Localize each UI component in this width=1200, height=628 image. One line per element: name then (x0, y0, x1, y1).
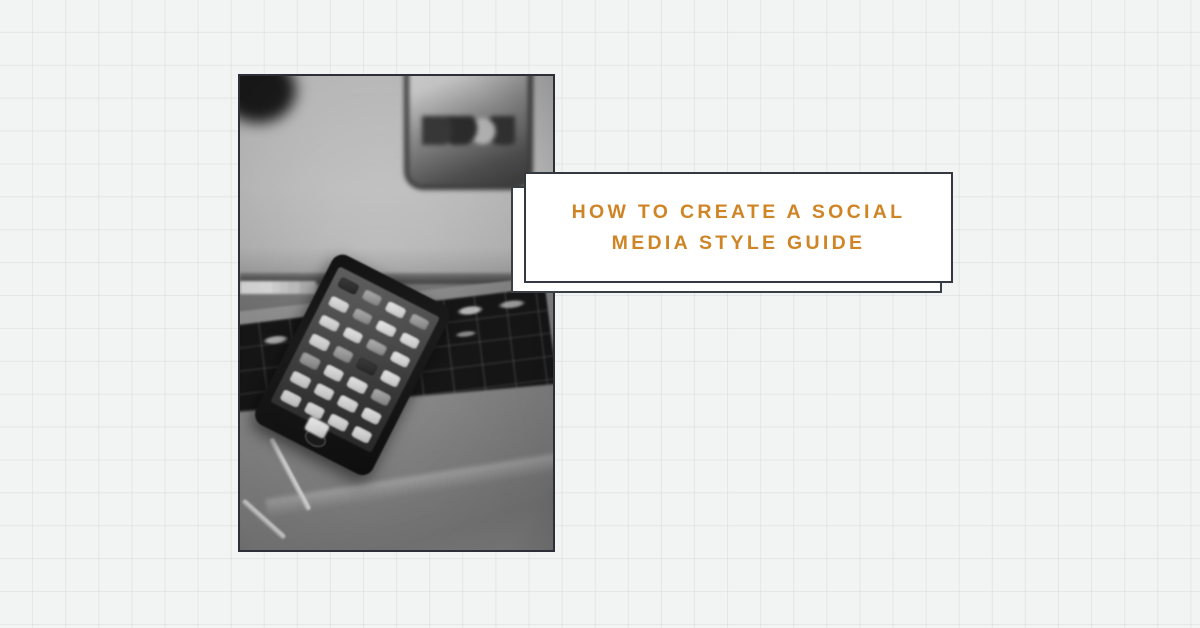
hero-photo (238, 74, 555, 552)
page-title: How to Create a Social Media Style Guide (554, 197, 924, 259)
background-grid (0, 0, 1200, 628)
photo-layer-soft-focus (240, 76, 553, 550)
hero-photo-artwork (240, 76, 553, 550)
social-media-graphic-canvas: How to Create a Social Media Style Guide (0, 0, 1200, 628)
title-card: How to Create a Social Media Style Guide (524, 172, 953, 283)
